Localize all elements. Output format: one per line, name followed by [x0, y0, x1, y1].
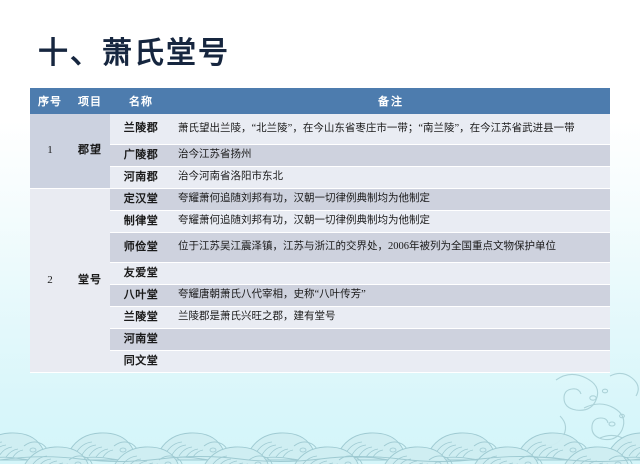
table-row: 同文堂 [30, 350, 610, 372]
cloud-swirl-decoration [460, 366, 640, 456]
column-header-item: 项目 [70, 88, 110, 114]
table-row: 河南堂 [30, 328, 610, 350]
cell-name: 定汉堂 [110, 188, 172, 210]
cell-note: 萧氏望出兰陵，“北兰陵”，在今山东省枣庄市一带；“南兰陵”，在今江苏省武进县一带 [172, 114, 610, 144]
table-body: 1郡望兰陵郡萧氏望出兰陵，“北兰陵”，在今山东省枣庄市一带；“南兰陵”，在今江苏… [30, 114, 610, 372]
data-table: 序号 项目 名称 备注 1郡望兰陵郡萧氏望出兰陵，“北兰陵”，在今山东省枣庄市一… [30, 88, 610, 373]
column-header-seq: 序号 [30, 88, 70, 114]
cell-name: 同文堂 [110, 350, 172, 372]
cell-name: 兰陵堂 [110, 306, 172, 328]
cell-seq: 2 [30, 188, 70, 372]
clan-hall-table: 序号 项目 名称 备注 1郡望兰陵郡萧氏望出兰陵，“北兰陵”，在今山东省枣庄市一… [30, 88, 610, 373]
cell-note: 兰陵郡是萧氏兴旺之郡，建有堂号 [172, 306, 610, 328]
table-header: 序号 项目 名称 备注 [30, 88, 610, 114]
cell-note: 夸耀唐朝萧氏八代宰相，史称“八叶传芳” [172, 284, 610, 306]
page-title: 十、萧氏堂号 [38, 28, 230, 72]
cell-note: 治今江苏省扬州 [172, 144, 610, 166]
column-header-name: 名称 [110, 88, 172, 114]
cell-name: 兰陵郡 [110, 114, 172, 144]
table-row: 师俭堂位于江苏吴江震泽镇，江苏与浙江的交界处，2006年被列为全国重点文物保护单… [30, 232, 610, 262]
cell-item: 堂号 [70, 188, 110, 372]
cell-note [172, 328, 610, 350]
cell-note: 治今河南省洛阳市东北 [172, 166, 610, 188]
cell-item: 郡望 [70, 114, 110, 188]
table-row: 友爱堂 [30, 262, 610, 284]
cell-name: 河南堂 [110, 328, 172, 350]
table-row: 兰陵堂兰陵郡是萧氏兴旺之郡，建有堂号 [30, 306, 610, 328]
cell-note: 位于江苏吴江震泽镇，江苏与浙江的交界处，2006年被列为全国重点文物保护单位 [172, 232, 610, 262]
cell-name: 八叶堂 [110, 284, 172, 306]
cell-note: 夸耀萧何追随刘邦有功，汉朝一切律例典制均为他制定 [172, 188, 610, 210]
cell-note [172, 350, 610, 372]
cell-note: 夸耀萧何追随刘邦有功，汉朝一切律例典制均为他制定 [172, 210, 610, 232]
wave-pattern-decoration [0, 408, 640, 464]
cell-name: 友爱堂 [110, 262, 172, 284]
table-row: 广陵郡治今江苏省扬州 [30, 144, 610, 166]
cell-name: 师俭堂 [110, 232, 172, 262]
table-row: 2堂号定汉堂夸耀萧何追随刘邦有功，汉朝一切律例典制均为他制定 [30, 188, 610, 210]
slide-canvas: 十、萧氏堂号 序号 项目 名称 备注 1郡望兰陵郡萧氏望出兰陵，“北兰陵”，在今… [0, 0, 640, 464]
table-row: 制律堂夸耀萧何追随刘邦有功，汉朝一切律例典制均为他制定 [30, 210, 610, 232]
table-row: 河南郡治今河南省洛阳市东北 [30, 166, 610, 188]
header-row: 序号 项目 名称 备注 [30, 88, 610, 114]
cell-seq: 1 [30, 114, 70, 188]
cell-name: 河南郡 [110, 166, 172, 188]
table-row: 1郡望兰陵郡萧氏望出兰陵，“北兰陵”，在今山东省枣庄市一带；“南兰陵”，在今江苏… [30, 114, 610, 144]
cell-name: 制律堂 [110, 210, 172, 232]
cell-note [172, 262, 610, 284]
column-header-note: 备注 [172, 88, 610, 114]
table-row: 八叶堂夸耀唐朝萧氏八代宰相，史称“八叶传芳” [30, 284, 610, 306]
cell-name: 广陵郡 [110, 144, 172, 166]
